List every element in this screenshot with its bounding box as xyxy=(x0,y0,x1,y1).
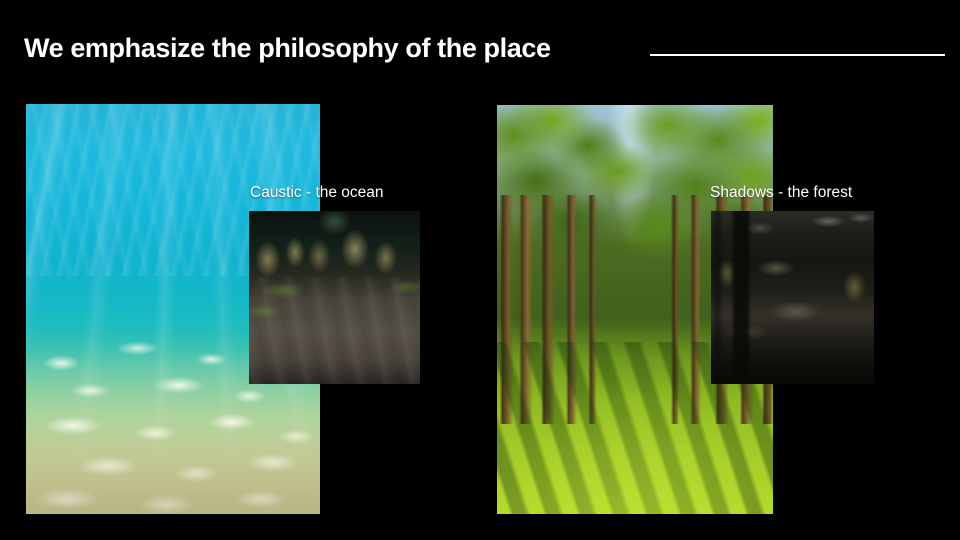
title-divider-rule xyxy=(650,54,945,56)
page-title: We emphasize the philosophy of the place xyxy=(24,33,551,64)
slide-canvas: We emphasize the philosophy of the place… xyxy=(0,0,960,540)
night-road-paving xyxy=(249,277,420,384)
forest-overlay-photo xyxy=(711,211,874,384)
ocean-overlay-photo xyxy=(249,211,420,384)
forest-lawn-glow xyxy=(497,375,773,514)
night-garden-silhouettes xyxy=(711,211,874,384)
forest-caption: Shadows - the forest xyxy=(710,184,852,202)
ocean-caption: Caustic - the ocean xyxy=(250,184,384,202)
ocean-seabed-shading xyxy=(26,424,320,514)
